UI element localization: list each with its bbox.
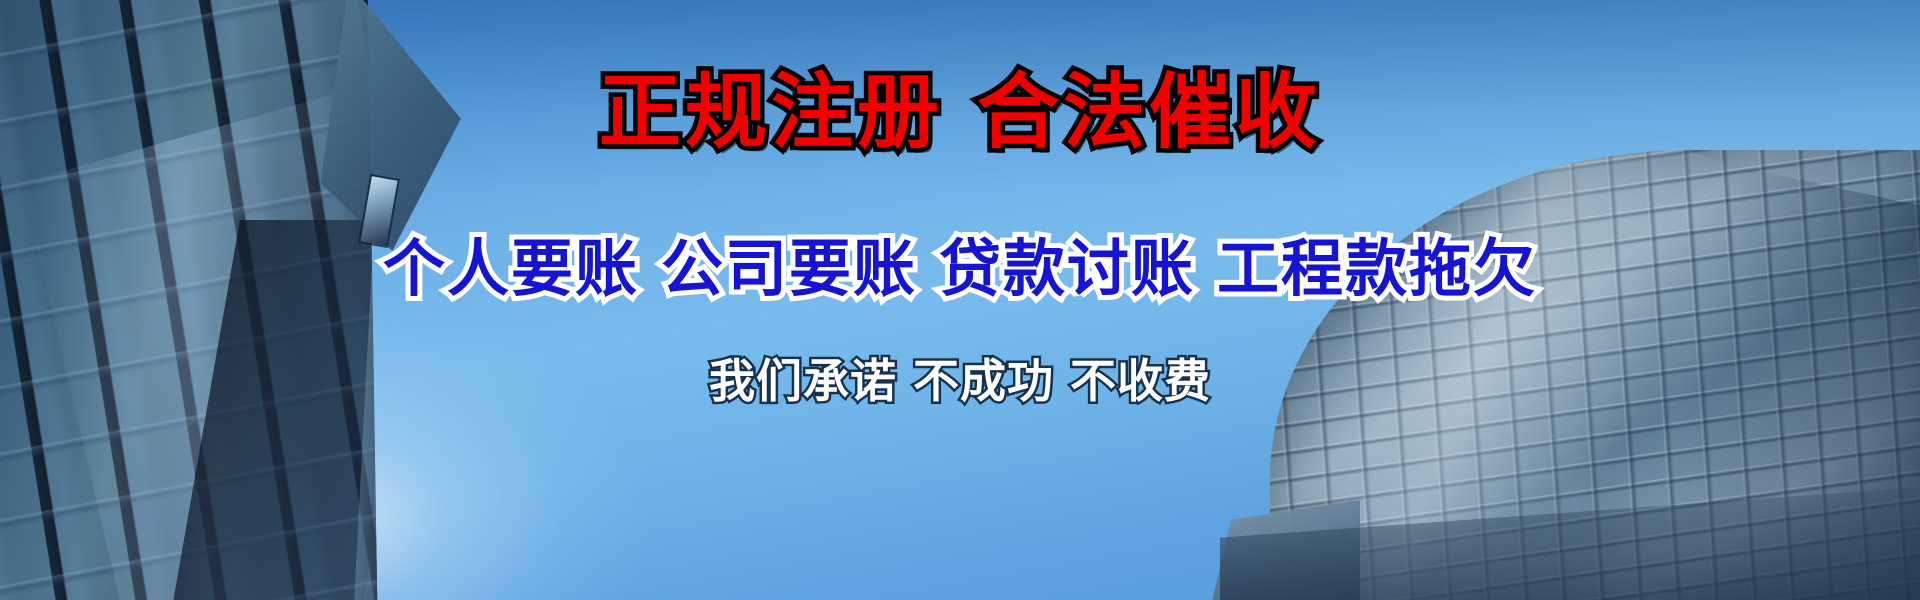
tagline-segment-1: 我们承诺: [709, 354, 897, 408]
subline-segment-4: 工程款拖欠: [1217, 232, 1537, 305]
banner-subline: 个人要账公司要账贷款讨账工程款拖欠: [0, 238, 1920, 300]
subline-segment-2: 公司要账: [661, 232, 917, 305]
banner-tagline: 我们承诺不成功不收费: [0, 358, 1920, 404]
promo-banner: 正规注册合法催收 个人要账公司要账贷款讨账工程款拖欠 我们承诺不成功不收费: [0, 0, 1920, 600]
subline-segment-3: 贷款讨账: [939, 232, 1195, 305]
subline-segment-1: 个人要账: [383, 232, 639, 305]
tagline-segment-3: 不收费: [1070, 354, 1211, 408]
banner-headline: 正规注册合法催收: [0, 72, 1920, 154]
tagline-segment-2: 不成功: [913, 354, 1054, 408]
headline-segment-2: 合法催收: [977, 65, 1321, 160]
banner-text-layer: 正规注册合法催收 个人要账公司要账贷款讨账工程款拖欠 我们承诺不成功不收费: [0, 0, 1920, 600]
headline-segment-1: 正规注册: [599, 65, 943, 160]
